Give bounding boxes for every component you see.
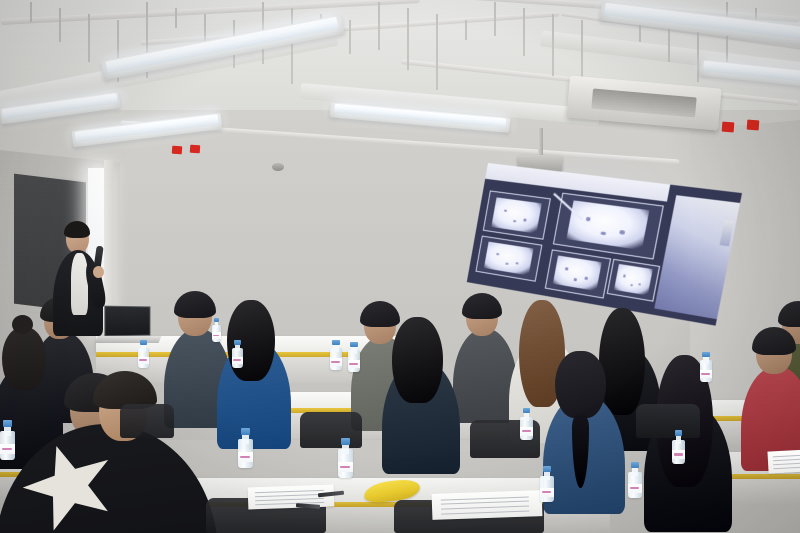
scene-title: Lecture hall seminar with projected medi… (0, 0, 26, 1)
hanger-rod (88, 14, 90, 62)
water-bottle (138, 340, 149, 368)
scan-marker (630, 284, 633, 287)
lecture-room-photo: Lecture hall seminar with projected medi… (0, 0, 800, 533)
bottle-label (628, 484, 642, 493)
bottle-cap (702, 352, 709, 357)
bottle-label (672, 450, 685, 459)
water-bottle (520, 408, 533, 440)
bottle-cap (631, 462, 639, 468)
presenter-hand (93, 266, 104, 278)
attendee-check-shirt-hair (462, 293, 502, 319)
water-bottle (700, 352, 712, 382)
attendee-grey-shirt-hair (360, 301, 400, 327)
bottle-neck (342, 444, 349, 454)
bottle-cap (341, 438, 350, 445)
hanger-rod (465, 20, 467, 40)
water-bottle (0, 420, 15, 460)
bottle-neck (632, 467, 638, 476)
bottle-neck (524, 412, 530, 420)
hanger-rod (378, 2, 380, 50)
bottle-label (212, 332, 221, 338)
ac-grille (592, 88, 697, 117)
water-bottle (338, 438, 353, 478)
bottle-neck (235, 344, 240, 351)
handout-line (255, 498, 324, 501)
handout-line (773, 454, 800, 458)
bottle-cap (3, 420, 12, 427)
water-bottle (238, 428, 253, 468)
bottle-cap (675, 430, 683, 436)
bottle-neck (215, 321, 219, 327)
bottle-label (330, 358, 342, 366)
red-marker-right-1 (722, 122, 735, 133)
scan-panel-center-large (552, 192, 663, 259)
bottle-cap (234, 340, 241, 345)
bottle-cap (332, 340, 339, 345)
bottle-label (238, 452, 253, 462)
scan-marker (619, 230, 625, 234)
handout-line (441, 506, 529, 510)
attendee-woman-bun-hair-bun (12, 315, 33, 334)
bottle-neck (544, 471, 550, 480)
handout-line (773, 462, 800, 466)
handout-line (255, 494, 324, 497)
handout (432, 490, 543, 520)
hanger-rod (30, 2, 32, 22)
scan-panel-bottom-right (607, 258, 660, 301)
bottle-label (348, 360, 360, 368)
scan-tissue (492, 197, 542, 233)
hanger-rod (523, 8, 525, 56)
bottle-cap (140, 340, 147, 345)
scan-tissue (566, 201, 649, 250)
scan-panel-top-left (483, 190, 551, 240)
hanger-rod (349, 20, 351, 54)
bottle-neck (333, 344, 338, 352)
slide-photograph-object (720, 220, 734, 247)
scan-tissue (484, 242, 533, 275)
bottle-label (520, 427, 533, 435)
bottle-cap (523, 408, 531, 413)
bottle-label (700, 370, 712, 378)
bottle-cap (214, 318, 219, 322)
water-bottle (212, 318, 221, 342)
red-marker-right-2 (747, 120, 760, 131)
attendee-glasses-bag-hair (174, 291, 216, 318)
bottle-cap (543, 466, 551, 472)
scan-marker (565, 267, 568, 270)
handout-line (441, 510, 529, 514)
handout-line (773, 458, 800, 462)
water-bottle (540, 466, 554, 502)
red-marker-left-2 (190, 145, 201, 154)
hanger-rod (552, 14, 554, 76)
smoke-detector (272, 163, 284, 171)
bottle-label (0, 444, 15, 454)
presenter-hair (64, 221, 90, 238)
scan-marker (584, 277, 587, 280)
bottle-label (138, 357, 149, 364)
handout-line (255, 490, 324, 493)
scan-tissue (553, 256, 602, 292)
handout-line (441, 501, 529, 505)
scan-panel-mid-left (476, 236, 543, 282)
hanger-rod (59, 8, 61, 42)
bottle-cap (350, 342, 357, 347)
scan-panel-bottom-center (544, 249, 611, 298)
water-bottle (672, 430, 685, 464)
bottle-neck (676, 435, 682, 444)
chair-back (120, 404, 174, 438)
bottle-label (232, 357, 243, 364)
bottle-neck (703, 356, 708, 364)
attendee-denim-hair (555, 351, 605, 418)
handout-line (773, 466, 800, 470)
presenter-shirt (71, 253, 88, 315)
chair-back (636, 404, 700, 438)
water-bottle (330, 340, 342, 370)
bottle-neck (242, 434, 249, 444)
hanger-rod (407, 8, 409, 70)
water-bottle (232, 340, 243, 368)
bottle-neck (141, 344, 146, 351)
handout-line (441, 496, 529, 500)
bottle-cap (241, 428, 250, 435)
attendee-dark-jacket-hair (392, 317, 443, 402)
handout (767, 448, 800, 473)
scan-marker (573, 278, 576, 281)
bottle-label (540, 488, 554, 497)
attendee-red-top-hair (752, 327, 796, 356)
water-bottle (628, 462, 642, 498)
bottle-neck (351, 346, 356, 354)
water-bottle (348, 342, 360, 372)
hanger-rod (436, 14, 438, 90)
hanger-rod (291, 8, 293, 84)
hanger-rod (494, 2, 496, 36)
scan-tissue (614, 264, 653, 295)
red-marker-left-1 (172, 146, 183, 155)
bottle-neck (4, 426, 11, 436)
attendee-woman-bun-hair (2, 327, 46, 390)
hanger-rod (175, 8, 177, 28)
attendee-olive-hair (778, 301, 800, 327)
bottle-label (338, 462, 353, 472)
